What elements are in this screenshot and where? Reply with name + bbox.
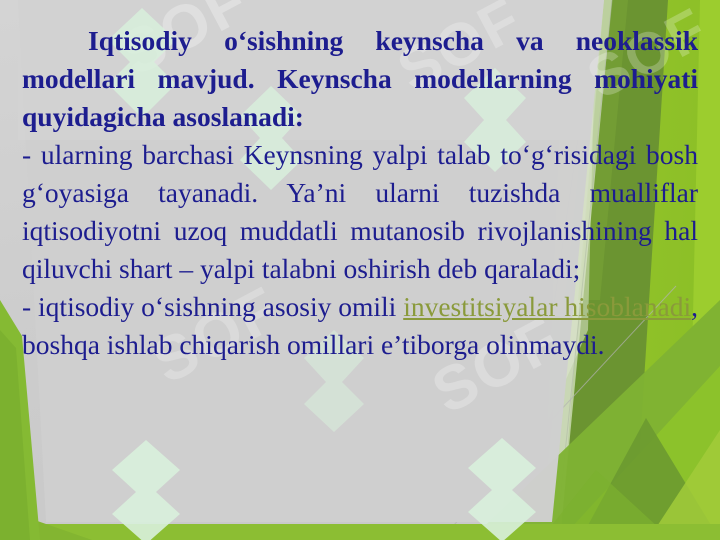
presentation-slide: SOF SOF SOF SOF SOF Iqtisodiy o‘sishning… — [0, 0, 720, 540]
bullet-two-text-before-link: - iqtisodiy o‘sishning asosiy omili — [22, 291, 403, 322]
investitsiyalar-hyperlink[interactable]: investitsiyalar hisoblanadi — [403, 291, 691, 322]
bullet-paragraph-two: - iqtisodiy o‘sishning asosiy omili inve… — [22, 288, 698, 364]
lead-paragraph: Iqtisodiy o‘sishning keynscha va neoklas… — [22, 22, 698, 136]
slide-text-body: Iqtisodiy o‘sishning keynscha va neoklas… — [22, 22, 698, 364]
bullet-paragraph-one: - ularning barchasi Keynsning yalpi tala… — [22, 136, 698, 288]
